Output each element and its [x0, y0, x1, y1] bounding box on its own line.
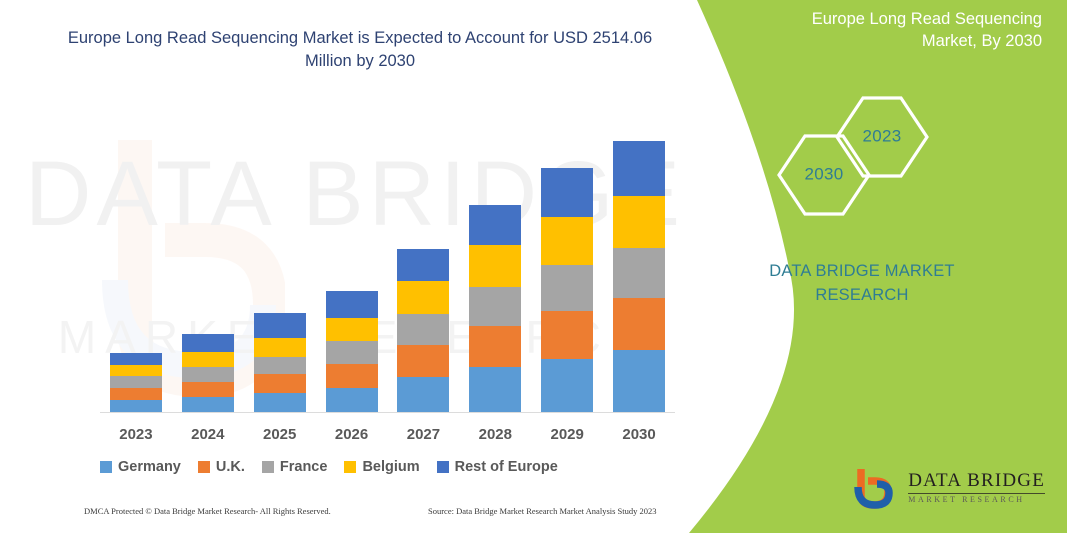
logo-main-text: DATA BRIDGE — [908, 471, 1045, 491]
bar-column-2027[interactable] — [397, 249, 449, 413]
chart-legend: GermanyU.K.FranceBelgiumRest of Europe — [100, 456, 680, 478]
bar-segment-germany[interactable] — [397, 377, 449, 413]
bar-segment-france[interactable] — [326, 341, 378, 364]
legend-swatch-rest-of-europe — [437, 461, 449, 473]
bar-segment-rest-of-europe[interactable] — [469, 205, 521, 245]
x-axis-label-2029: 2029 — [532, 426, 602, 443]
bar-segment-france[interactable] — [254, 357, 306, 375]
brand-name: DATA BRIDGE MARKET RESEARCH — [727, 260, 997, 308]
hex-badge-2030-label: 2030 — [776, 165, 872, 185]
bar-segment-rest-of-europe[interactable] — [397, 249, 449, 281]
legend-label-u-k: U.K. — [216, 459, 245, 475]
bar-segment-germany[interactable] — [541, 359, 593, 413]
hex-badge-2030: 2030 — [776, 133, 872, 217]
x-axis-label-2023: 2023 — [101, 426, 171, 443]
bar-segment-rest-of-europe[interactable] — [182, 334, 234, 353]
plot-area — [100, 110, 675, 413]
bar-segment-u-k[interactable] — [469, 326, 521, 367]
logo-sub-text: MARKET RESEARCH — [908, 496, 1045, 504]
bar-segment-u-k[interactable] — [182, 382, 234, 398]
bar-segment-rest-of-europe[interactable] — [541, 168, 593, 217]
bar-segment-france[interactable] — [110, 376, 162, 387]
x-axis-label-2024: 2024 — [173, 426, 243, 443]
bar-segment-belgium[interactable] — [397, 281, 449, 313]
footer-source: Source: Data Bridge Market Research Mark… — [428, 506, 657, 516]
bar-segment-france[interactable] — [469, 287, 521, 327]
bar-segment-belgium[interactable] — [613, 196, 665, 248]
legend-item-rest-of-europe[interactable]: Rest of Europe — [437, 459, 558, 475]
bar-segment-germany[interactable] — [613, 350, 665, 413]
legend-label-france: France — [280, 459, 328, 475]
bar-segment-belgium[interactable] — [326, 318, 378, 341]
bar-segment-germany[interactable] — [182, 397, 234, 413]
chart-panel: DATA BRIDGE MARKET RESEARCH Europe Long … — [0, 0, 710, 533]
bar-segment-france[interactable] — [182, 367, 234, 382]
data-bridge-logo-icon — [854, 465, 900, 511]
hex-badge-group: 2023 2030 — [762, 95, 962, 210]
legend-item-france[interactable]: France — [262, 459, 328, 475]
footer: DMCA Protected © Data Bridge Market Rese… — [0, 506, 710, 526]
bar-segment-germany[interactable] — [469, 367, 521, 413]
bar-column-2029[interactable] — [541, 168, 593, 413]
x-axis-label-2026: 2026 — [317, 426, 387, 443]
green-side-panel: Europe Long Read Sequencing Market, By 2… — [667, 0, 1067, 533]
panel-heading: Europe Long Read Sequencing Market, By 2… — [772, 8, 1042, 53]
bar-segment-rest-of-europe[interactable] — [110, 353, 162, 364]
bar-segment-rest-of-europe[interactable] — [613, 141, 665, 195]
legend-label-rest-of-europe: Rest of Europe — [455, 459, 558, 475]
x-axis-label-2028: 2028 — [460, 426, 530, 443]
x-axis-label-2027: 2027 — [388, 426, 458, 443]
footer-copyright: DMCA Protected © Data Bridge Market Rese… — [84, 506, 331, 516]
x-axis-labels: 20232024202520262027202820292030 — [100, 426, 675, 448]
legend-swatch-germany — [100, 461, 112, 473]
bar-column-2024[interactable] — [182, 334, 234, 413]
x-axis-line — [100, 412, 675, 413]
bar-segment-u-k[interactable] — [254, 374, 306, 393]
legend-label-belgium: Belgium — [362, 459, 419, 475]
bar-segment-germany[interactable] — [326, 388, 378, 413]
bar-segment-germany[interactable] — [254, 393, 306, 413]
legend-item-belgium[interactable]: Belgium — [344, 459, 419, 475]
legend-swatch-u-k — [198, 461, 210, 473]
bar-segment-france[interactable] — [613, 248, 665, 298]
x-axis-label-2025: 2025 — [245, 426, 315, 443]
bar-column-2026[interactable] — [326, 291, 378, 413]
bar-segment-france[interactable] — [397, 314, 449, 345]
chart-title: Europe Long Read Sequencing Market is Ex… — [60, 27, 660, 74]
bar-column-2025[interactable] — [254, 313, 306, 413]
bar-segment-u-k[interactable] — [397, 345, 449, 377]
bar-segment-belgium[interactable] — [182, 352, 234, 367]
bar-segment-belgium[interactable] — [469, 245, 521, 287]
legend-label-germany: Germany — [118, 459, 181, 475]
bar-column-2028[interactable] — [469, 205, 521, 413]
legend-swatch-belgium — [344, 461, 356, 473]
bar-column-2030[interactable] — [613, 141, 665, 413]
legend-item-u-k[interactable]: U.K. — [198, 459, 245, 475]
bar-segment-belgium[interactable] — [110, 365, 162, 376]
legend-item-germany[interactable]: Germany — [100, 459, 181, 475]
bar-segment-rest-of-europe[interactable] — [254, 313, 306, 338]
bar-segment-rest-of-europe[interactable] — [326, 291, 378, 318]
logo-wordmark: DATA BRIDGE MARKET RESEARCH — [908, 471, 1045, 504]
bar-column-2023[interactable] — [110, 353, 162, 413]
logo-divider — [908, 493, 1045, 494]
bar-segment-u-k[interactable] — [326, 364, 378, 388]
bar-segment-u-k[interactable] — [110, 388, 162, 401]
x-axis-label-2030: 2030 — [604, 426, 674, 443]
data-bridge-logo: DATA BRIDGE MARKET RESEARCH — [854, 465, 1045, 511]
bar-segment-belgium[interactable] — [254, 338, 306, 357]
bar-segment-france[interactable] — [541, 265, 593, 311]
bar-segment-belgium[interactable] — [541, 217, 593, 265]
bar-segment-u-k[interactable] — [541, 311, 593, 359]
bar-segment-u-k[interactable] — [613, 298, 665, 350]
legend-swatch-france — [262, 461, 274, 473]
